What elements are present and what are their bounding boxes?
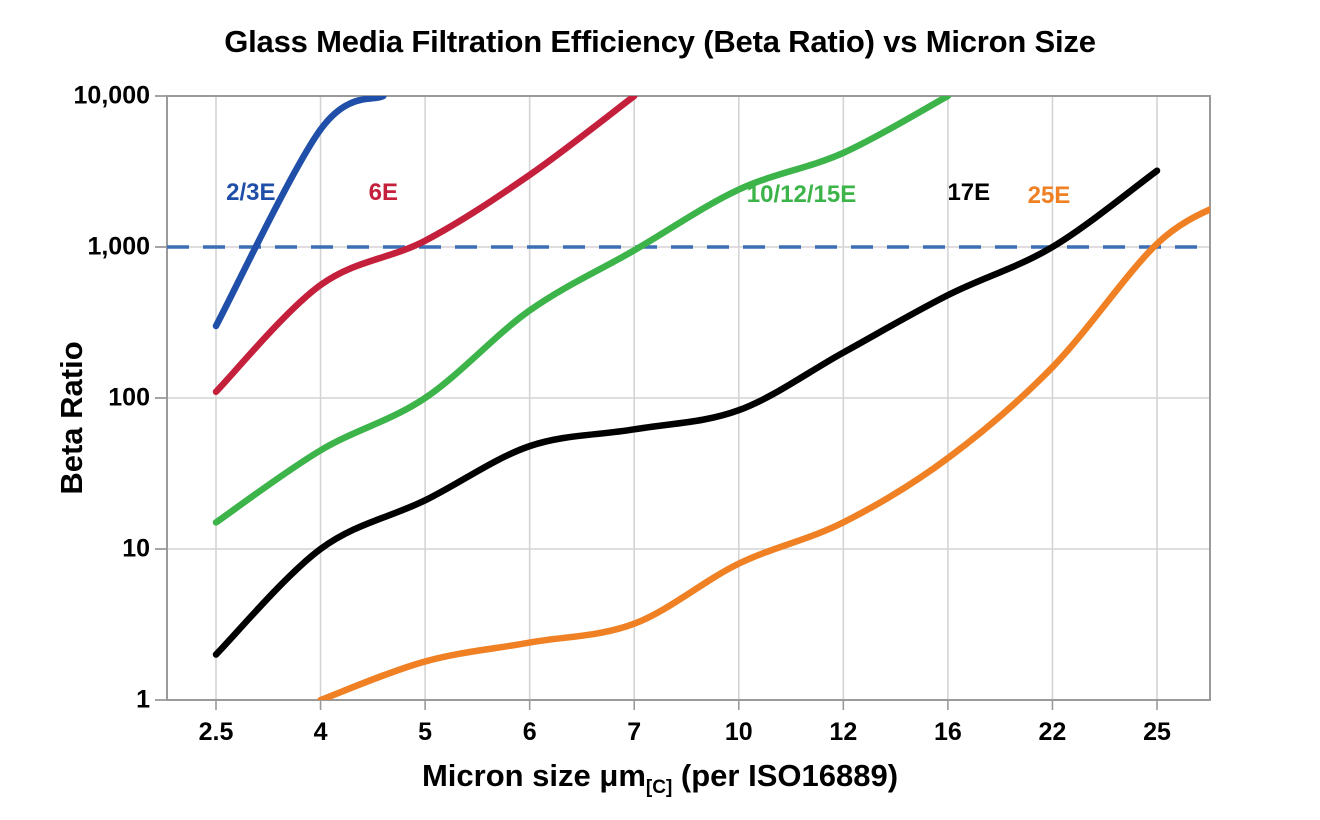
y-tick-label: 1,000 <box>10 233 150 262</box>
y-tick-label: 10,000 <box>10 82 150 111</box>
series-label-2-3e: 2/3E <box>226 179 275 207</box>
plot-area <box>0 0 1320 820</box>
y-tick-label: 1 <box>10 686 150 715</box>
series-label-25e: 25E <box>1028 182 1071 210</box>
x-tick-label: 2.5 <box>161 718 271 747</box>
x-tick-label: 16 <box>893 718 1003 747</box>
series-line-17e <box>216 171 1157 655</box>
series-line-25e <box>321 202 1227 700</box>
series-line-2-3e <box>216 96 383 326</box>
x-axis-title-tail: (per ISO16889) <box>672 758 898 793</box>
series-label-10-12-15e: 10/12/15E <box>747 181 856 209</box>
x-tick-label: 7 <box>579 718 689 747</box>
y-tick-label: 10 <box>10 535 150 564</box>
x-tick-label: 10 <box>684 718 794 747</box>
x-tick-label: 22 <box>997 718 1107 747</box>
x-tick-label: 4 <box>266 718 376 747</box>
x-tick-label: 25 <box>1102 718 1212 747</box>
x-axis-title-main: Micron size μm <box>422 758 646 793</box>
x-tick-label: 6 <box>475 718 585 747</box>
y-axis-title: Beta Ratio <box>54 288 90 548</box>
x-axis-title: Micron size μm[C] (per ISO16889) <box>0 758 1320 799</box>
series-label-17e: 17E <box>947 179 990 207</box>
y-tick-label: 100 <box>10 384 150 413</box>
beta-ratio-chart: Glass Media Filtration Efficiency (Beta … <box>0 0 1320 820</box>
series-line-10-12-15e <box>216 96 948 522</box>
x-axis-title-subscript: [C] <box>646 777 672 798</box>
series-label-6e: 6E <box>369 179 398 207</box>
x-tick-label: 12 <box>788 718 898 747</box>
x-tick-label: 5 <box>370 718 480 747</box>
